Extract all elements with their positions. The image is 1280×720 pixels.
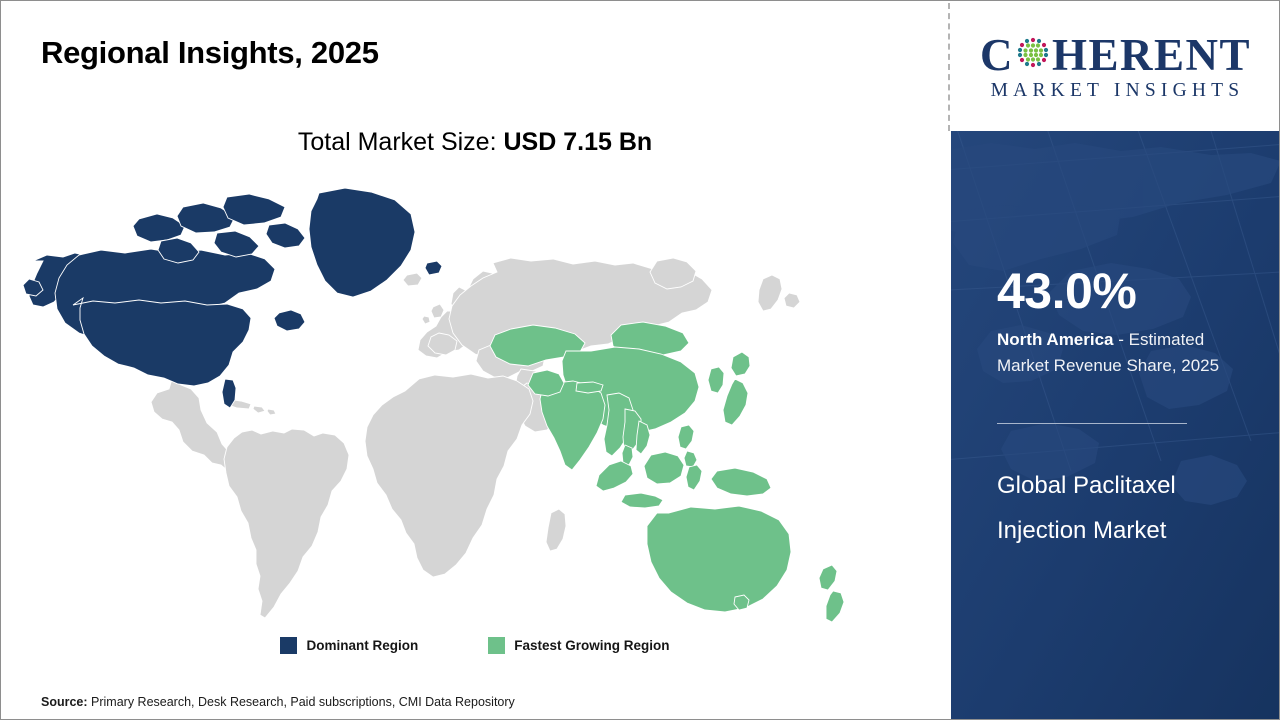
logo-wordmark: C bbox=[971, 33, 1261, 78]
logo-subtitle: MARKET INSIGHTS bbox=[971, 81, 1261, 101]
stat-percentage: 43.0% bbox=[997, 266, 1136, 316]
market-name: Global Paclitaxel Injection Market bbox=[997, 463, 1247, 553]
source-text: Primary Research, Desk Research, Paid su… bbox=[88, 695, 515, 709]
vertical-dashed-divider bbox=[948, 3, 950, 131]
source-note: Source: Primary Research, Desk Research,… bbox=[41, 695, 515, 709]
legend-swatch-green-icon bbox=[488, 637, 505, 654]
page-title: Regional Insights, 2025 bbox=[41, 35, 379, 71]
legend-swatch-navy-icon bbox=[280, 637, 297, 654]
market-size-value: USD 7.15 Bn bbox=[503, 128, 652, 156]
legend-item-dominant: Dominant Region bbox=[280, 637, 418, 654]
source-label: Source: bbox=[41, 695, 88, 709]
total-market-size: Total Market Size: USD 7.15 Bn bbox=[1, 128, 949, 157]
world-map bbox=[21, 183, 901, 623]
globe-dots-icon bbox=[1015, 33, 1051, 78]
logo-letters-herent: HERENT bbox=[1052, 33, 1251, 78]
map-region-asia-pacific bbox=[490, 322, 844, 622]
map-legend: Dominant Region Fastest Growing Region bbox=[1, 637, 949, 654]
logo-letter-c: C bbox=[980, 33, 1014, 78]
left-content-pane: Regional Insights, 2025 Total Market Siz… bbox=[1, 1, 949, 720]
stat-divider-rule bbox=[997, 423, 1187, 424]
infographic-page: Regional Insights, 2025 Total Market Siz… bbox=[0, 0, 1280, 720]
legend-item-fastest-growing: Fastest Growing Region bbox=[488, 637, 669, 654]
stat-caption: North America - Estimated Market Revenue… bbox=[997, 327, 1247, 380]
brand-logo: C bbox=[951, 2, 1280, 131]
map-region-north-america bbox=[23, 188, 442, 408]
legend-label-fastest-growing: Fastest Growing Region bbox=[514, 638, 669, 653]
market-size-label: Total Market Size: bbox=[298, 128, 504, 156]
legend-label-dominant: Dominant Region bbox=[306, 638, 418, 653]
stat-region-name: North America bbox=[997, 330, 1114, 349]
stat-panel: 43.0% North America - Estimated Market R… bbox=[951, 131, 1280, 720]
